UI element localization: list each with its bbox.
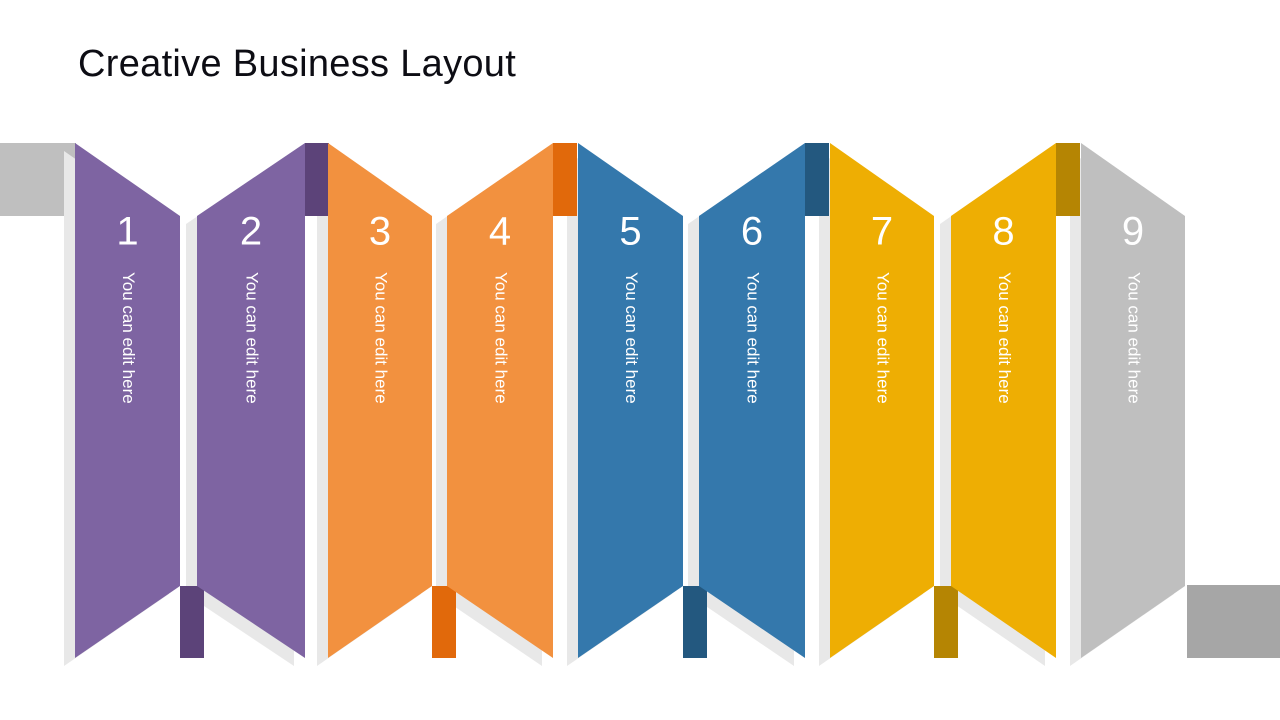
- slide-canvas: Creative Business Layout 1You can edit h…: [0, 0, 1280, 720]
- fold-tab-bottom-3: [432, 586, 456, 658]
- fold-tab-top-2: [305, 143, 329, 216]
- end-tail: [1187, 585, 1280, 658]
- fold-tab-top-4: [553, 143, 577, 216]
- panel-caption-4: You can edit here: [492, 272, 511, 404]
- panel-caption-5: You can edit here: [622, 272, 641, 404]
- panel-caption-1: You can edit here: [119, 272, 138, 404]
- fold-tab-top-6: [805, 143, 829, 216]
- fold-tab-bottom-1: [180, 586, 204, 658]
- panel-number-6: 6: [741, 210, 763, 254]
- panel-caption-6: You can edit here: [744, 272, 763, 404]
- panel-caption-2: You can edit here: [243, 272, 262, 404]
- panel-caption-8: You can edit here: [995, 272, 1014, 404]
- panel-number-2: 2: [240, 210, 262, 254]
- panel-number-4: 4: [489, 210, 511, 254]
- fold-tab-bottom-7: [934, 586, 958, 658]
- panel-caption-7: You can edit here: [874, 272, 893, 404]
- panel-number-1: 1: [116, 210, 138, 254]
- panel-caption-9: You can edit here: [1125, 272, 1144, 404]
- panel-number-8: 8: [992, 210, 1014, 254]
- fold-tab-top-8: [1056, 143, 1080, 216]
- creative-business-layout-diagram: 1You can edit here2You can edit here3You…: [0, 0, 1280, 720]
- panel-caption-3: You can edit here: [372, 272, 391, 404]
- panel-number-5: 5: [619, 210, 641, 254]
- fold-tab-bottom-5: [683, 586, 707, 658]
- panel-number-9: 9: [1122, 210, 1144, 254]
- panel-number-7: 7: [871, 210, 893, 254]
- panel-number-3: 3: [369, 210, 391, 254]
